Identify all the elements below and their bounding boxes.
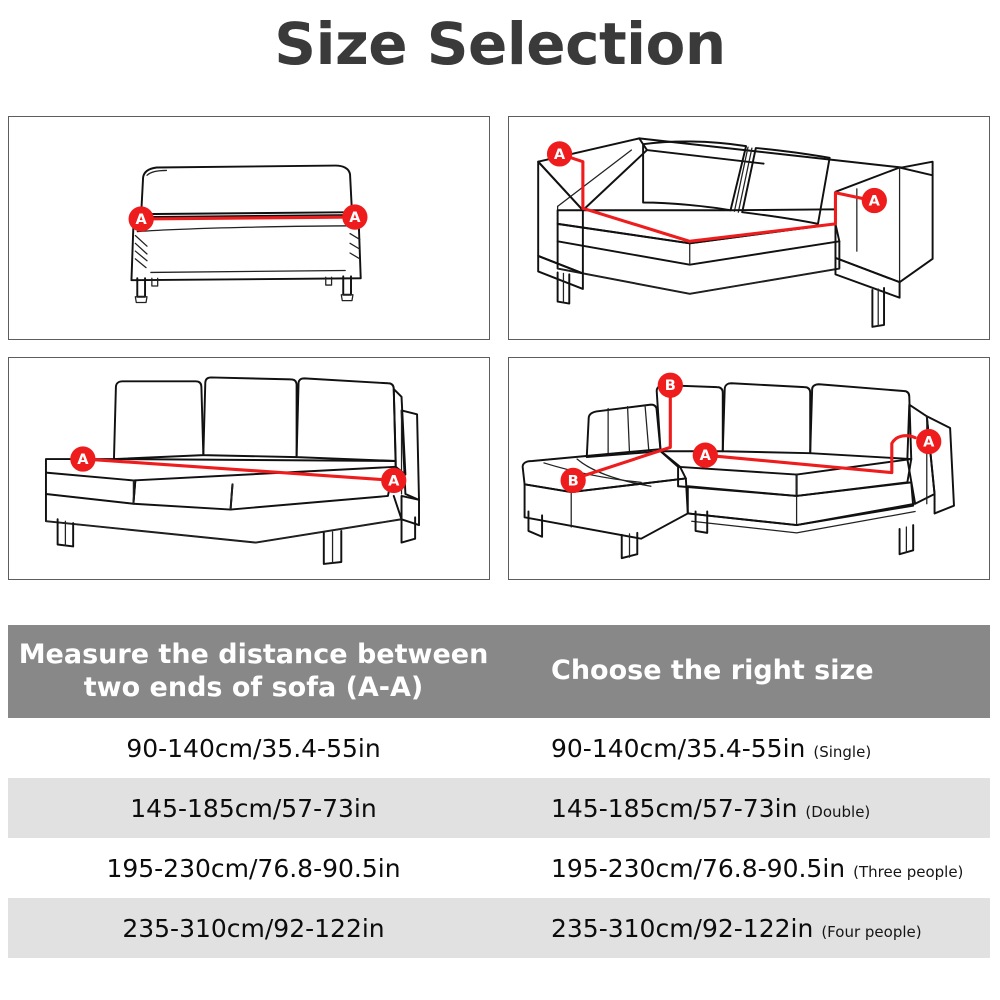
svg-text:A: A [388,472,400,489]
two-seat-sofa-perspective-icon: A A [509,117,989,339]
table-row: 195-230cm/76.8-90.5in 195-230cm/76.8-90.… [8,838,990,898]
table-row: 90-140cm/35.4-55in 90-140cm/35.4-55in(Si… [8,718,990,778]
table-header-row: Measure the distance between two ends of… [8,625,990,718]
svg-text:A: A [869,193,881,210]
cell-size-value: 235-310cm/92-122in [551,914,813,943]
svg-text:A: A [136,211,148,228]
svg-text:A: A [554,146,566,163]
column-header-size: Choose the right size [499,625,990,718]
cell-size-value: 90-140cm/35.4-55in [551,734,805,763]
size-table: Measure the distance between two ends of… [8,625,990,958]
svg-text:A: A [77,451,89,468]
cell-size-choice: 195-230cm/76.8-90.5in(Three people) [499,838,990,898]
diagram-panel-single-sofa: A A [8,116,490,340]
diagram-panel-l-shaped-sectional: B B A A [508,357,990,581]
cell-measure-range: 195-230cm/76.8-90.5in [8,838,499,898]
column-header-measure-line2: two ends of sofa (A-A) [84,672,424,703]
cell-size-value: 145-185cm/57-73in [551,794,797,823]
table-row: 235-310cm/92-122in 235-310cm/92-122in(Fo… [8,898,990,958]
cell-size-value: 195-230cm/76.8-90.5in [551,854,845,883]
cell-size-note: (Four people) [821,923,921,941]
svg-text:B: B [665,377,676,394]
column-header-measure-line1: Measure the distance between [19,639,489,670]
size-table-head: Measure the distance between two ends of… [8,625,990,718]
cell-measure-range: 145-185cm/57-73in [8,778,499,838]
svg-text:A: A [700,447,712,464]
table-row: 145-185cm/57-73in 145-185cm/57-73in(Doub… [8,778,990,838]
column-header-measure: Measure the distance between two ends of… [8,625,499,718]
svg-text:B: B [568,472,579,489]
l-shaped-sectional-perspective-icon: B B A A [509,358,989,580]
cell-size-choice: 235-310cm/92-122in(Four people) [499,898,990,958]
single-sofa-front-view-icon: A A [9,117,489,339]
cell-size-note: (Three people) [853,863,963,881]
cell-size-note: (Single) [813,743,871,761]
svg-text:A: A [923,433,935,450]
cell-size-choice: 90-140cm/35.4-55in(Single) [499,718,990,778]
cell-measure-range: 235-310cm/92-122in [8,898,499,958]
diagram-panel-two-seat-sofa: A A [508,116,990,340]
cell-size-choice: 145-185cm/57-73in(Double) [499,778,990,838]
cell-size-note: (Double) [805,803,870,821]
page-title: Size Selection [0,14,1000,75]
cell-measure-range: 90-140cm/35.4-55in [8,718,499,778]
svg-text:A: A [349,209,361,226]
measure-line-a-a [560,154,873,241]
size-table-body: 90-140cm/35.4-55in 90-140cm/35.4-55in(Si… [8,718,990,958]
diagram-grid: A A [8,116,990,580]
measure-line-b-b [575,385,670,478]
measure-line-a-a [141,217,354,219]
diagram-panel-three-seat-sofa: A A [8,357,490,581]
three-seat-sofa-perspective-icon: A A [9,358,489,580]
